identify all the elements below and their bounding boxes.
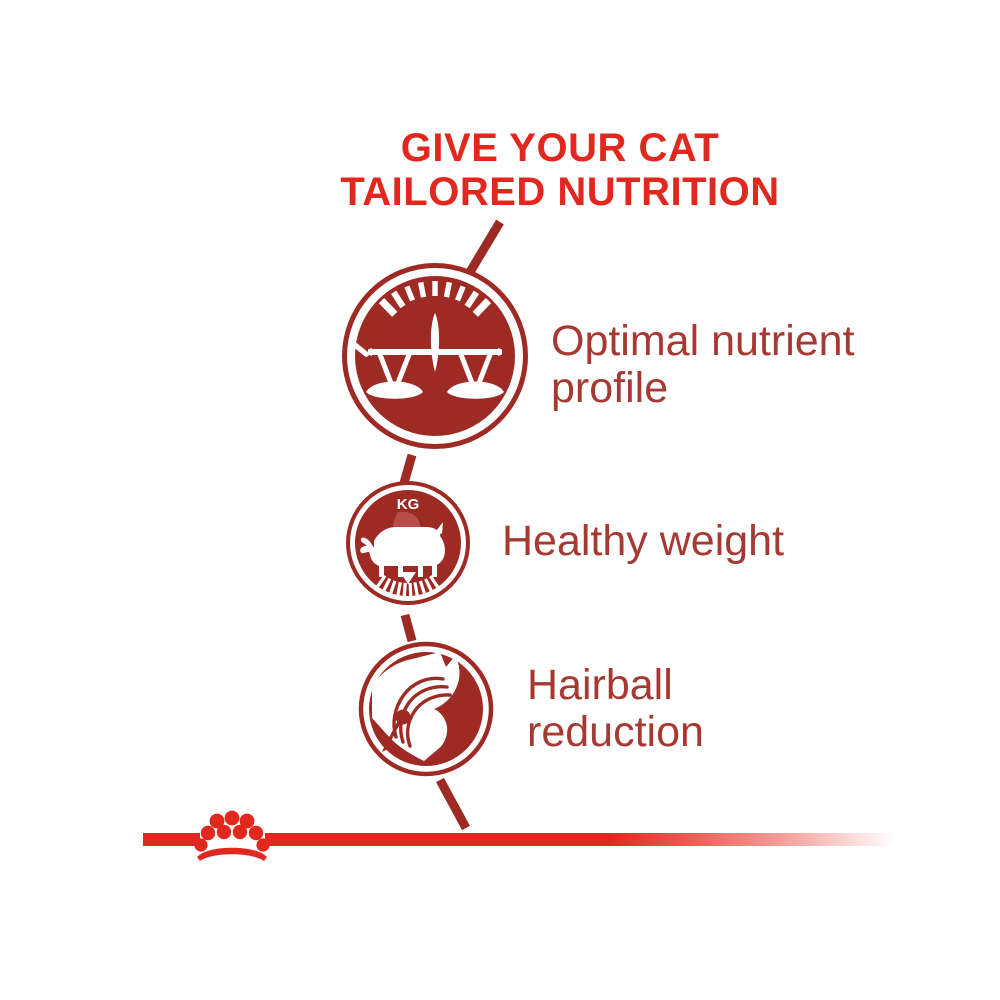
connector-bottom bbox=[440, 780, 466, 828]
benefit-label-optimal-nutrient-profile: Optimal nutrient profile bbox=[551, 318, 855, 412]
benefit-label-healthy-weight: Healthy weight bbox=[502, 518, 784, 565]
footer-bar-left bbox=[143, 833, 200, 846]
kg-label: KG bbox=[397, 496, 420, 513]
benefits-illustration: KG bbox=[0, 0, 1000, 1000]
footer-bar-right bbox=[265, 833, 895, 846]
poster-canvas: GIVE YOUR CAT TAILORED NUTRITION bbox=[0, 0, 1000, 1000]
benefit-badge-hairball-reduction[interactable] bbox=[361, 644, 491, 774]
connector-top bbox=[470, 222, 500, 272]
connector-circle1-to-circle2 bbox=[404, 455, 412, 483]
connector-circle2-to-circle3 bbox=[405, 615, 412, 641]
royal-canin-crown-icon bbox=[194, 811, 269, 861]
benefit-badge-healthy-weight[interactable]: KG bbox=[348, 483, 468, 603]
benefit-badge-optimal-nutrient-profile[interactable] bbox=[345, 266, 526, 447]
benefit-label-hairball-reduction: Hairball reduction bbox=[527, 662, 704, 756]
